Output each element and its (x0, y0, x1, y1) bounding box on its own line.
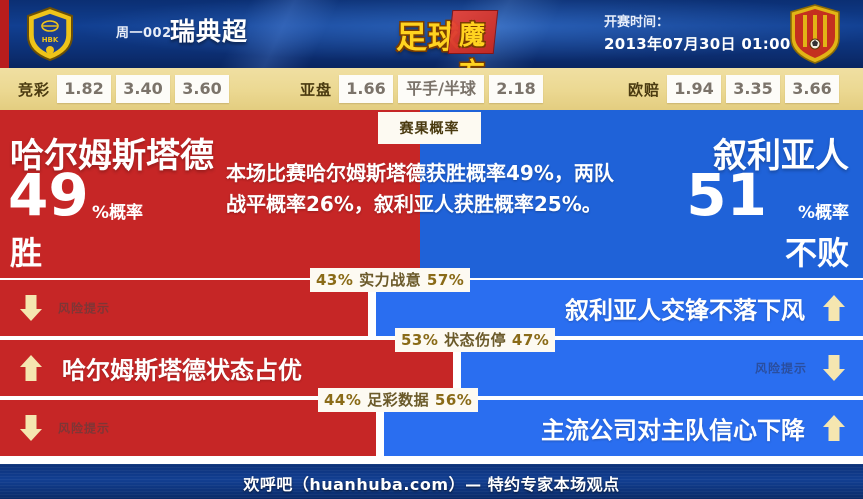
odds-value-cell[interactable]: 平手/半球 (398, 75, 484, 103)
kickoff-value: 2013年07月30日 01:00 (604, 33, 791, 54)
metric-label: 43% 实力战意 57% (310, 268, 470, 292)
comparison-row: 44% 足彩数据 56%风险提示主流公司对主队信心下降 (0, 400, 863, 456)
odds-group-jingcai: 竞彩1.823.403.60 (18, 68, 234, 110)
arrow-down-icon (821, 353, 847, 383)
away-risk-note: 风险提示 (755, 360, 807, 377)
header-left-accent (0, 0, 9, 68)
brand-logo-cube-text: 魔方 (450, 15, 494, 68)
metric-left-value: 43% (316, 271, 359, 289)
metric-right-value: 56% (429, 391, 472, 409)
home-probability-value: 49 (8, 166, 89, 224)
odds-value-cell[interactable]: 1.66 (339, 75, 393, 103)
away-probability-value: 51 (686, 166, 767, 224)
tab-result-probability[interactable]: 赛果概率 (378, 112, 481, 144)
home-probability-unit: %概率 (92, 198, 143, 223)
away-verdict-text: 主流公司对主队信心下降 (541, 411, 805, 446)
odds-group-label: 竞彩 (18, 79, 50, 100)
header-bar: HBK 周一002 瑞典超 足球 魔方 开赛时间： 2013年07月30日 01… (0, 0, 863, 68)
metric-left-value: 44% (324, 391, 367, 409)
league-name: 瑞典超 (170, 12, 248, 48)
brand-logo: 足球 魔方 (352, 8, 504, 58)
away-team-crest-icon (789, 4, 841, 64)
away-probability-unit: %概率 (798, 198, 849, 223)
away-verdict-text: 叙利亚人交锋不落下风 (565, 291, 805, 326)
svg-text:HBK: HBK (42, 36, 59, 44)
odds-value-cell[interactable]: 3.35 (726, 75, 780, 103)
home-team-crest-icon: HBK (22, 6, 78, 62)
home-outcome-label: 胜 (10, 228, 42, 274)
metric-label: 44% 足彩数据 56% (318, 388, 478, 412)
metric-label: 53% 状态伤停 47% (395, 328, 555, 352)
arrow-up-icon (18, 353, 44, 383)
home-risk-note: 风险提示 (58, 420, 110, 437)
odds-group-oupei: 欧赔1.943.353.66 (628, 68, 844, 110)
arrow-down-icon (18, 413, 44, 443)
home-risk-note: 风险提示 (58, 300, 110, 317)
odds-group-label: 亚盘 (300, 79, 332, 100)
metric-name: 足彩数据 (367, 391, 429, 409)
footer-bar: 欢呼吧（huanhuba.com）— 特约专家本场观点 (0, 464, 863, 499)
odds-value-cell[interactable]: 1.94 (667, 75, 721, 103)
kickoff-label: 开赛时间： (604, 11, 669, 30)
metric-right-value: 57% (421, 271, 464, 289)
arrow-up-icon (821, 293, 847, 323)
match-number: 周一002 (116, 22, 172, 41)
home-verdict-text: 哈尔姆斯塔德状态占优 (62, 351, 302, 386)
metric-left-value: 53% (401, 331, 444, 349)
odds-value-cell[interactable]: 3.66 (785, 75, 839, 103)
metric-name: 实力战意 (359, 271, 421, 289)
arrow-down-icon (18, 293, 44, 323)
odds-value-cell[interactable]: 3.40 (116, 75, 170, 103)
odds-group-label: 欧赔 (628, 79, 660, 100)
footer-credit-text: 欢呼吧（huanhuba.com）— 特约专家本场观点 (0, 471, 863, 495)
metric-right-value: 47% (506, 331, 549, 349)
odds-value-cell[interactable]: 3.60 (175, 75, 229, 103)
odds-value-cell[interactable]: 2.18 (489, 75, 543, 103)
away-outcome-label: 不败 (785, 228, 849, 274)
metric-name: 状态伤停 (444, 331, 506, 349)
probability-summary-text: 本场比赛哈尔姆斯塔德获胜概率49%，两队战平概率26%，叙利亚人获胜概率25%。 (226, 158, 616, 220)
odds-value-cell[interactable]: 1.82 (57, 75, 111, 103)
match-preview-graphic: HBK 周一002 瑞典超 足球 魔方 开赛时间： 2013年07月30日 01… (0, 0, 863, 499)
odds-group-yapan: 亚盘1.66平手/半球2.18 (300, 68, 548, 110)
odds-bar: 竞彩1.823.403.60 亚盘1.66平手/半球2.18 欧赔1.943.3… (0, 68, 863, 110)
arrow-up-icon (821, 413, 847, 443)
